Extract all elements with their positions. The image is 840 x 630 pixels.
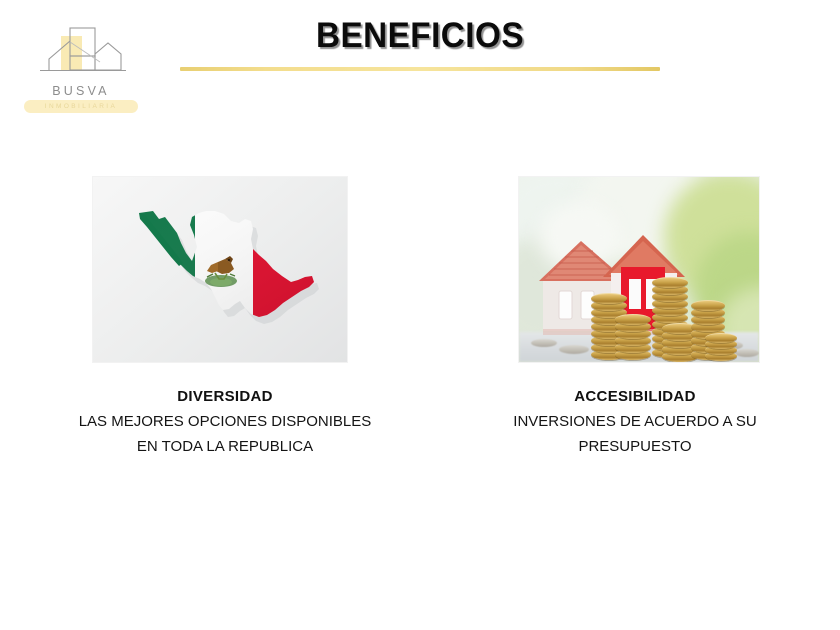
caption-body-line-1: INVERSIONES DE ACUERDO A SU — [440, 409, 830, 434]
benefit-column-accesibilidad — [440, 176, 830, 363]
logo-wordmark: BUSVA — [22, 84, 140, 98]
caption-diversidad: DIVERSIDAD LAS MEJORES OPCIONES DISPONIB… — [10, 387, 440, 459]
title-divider — [180, 67, 660, 71]
caption-body-line-1: LAS MEJORES OPCIONES DISPONIBLES — [10, 409, 440, 434]
caption-body-line-2: PRESUPUESTO — [440, 434, 830, 459]
page-title: BENEFICIOS — [192, 16, 648, 56]
mexico-map-flag-image — [92, 176, 348, 363]
coin-stack — [705, 323, 737, 361]
scattered-coin — [531, 339, 557, 347]
caption-body-line-2: EN TODA LA REPUBLICA — [10, 434, 440, 459]
benefit-column-diversidad — [10, 176, 440, 363]
caption-accesibilidad: ACCESIBILIDAD INVERSIONES DE ACUERDO A S… — [440, 387, 830, 459]
logo-tagline: INMOBILIARIA — [24, 101, 138, 112]
house-with-coin-stacks-image — [518, 176, 760, 363]
caption-heading: ACCESIBILIDAD — [440, 387, 830, 406]
coin-stack — [615, 309, 651, 359]
scattered-coin — [735, 349, 759, 357]
busva-logo: BUSVA INMOBILIARIA — [22, 26, 140, 121]
caption-heading: DIVERSIDAD — [10, 387, 440, 406]
scattered-coin — [559, 345, 589, 354]
buildings-line-art-icon — [22, 26, 140, 84]
